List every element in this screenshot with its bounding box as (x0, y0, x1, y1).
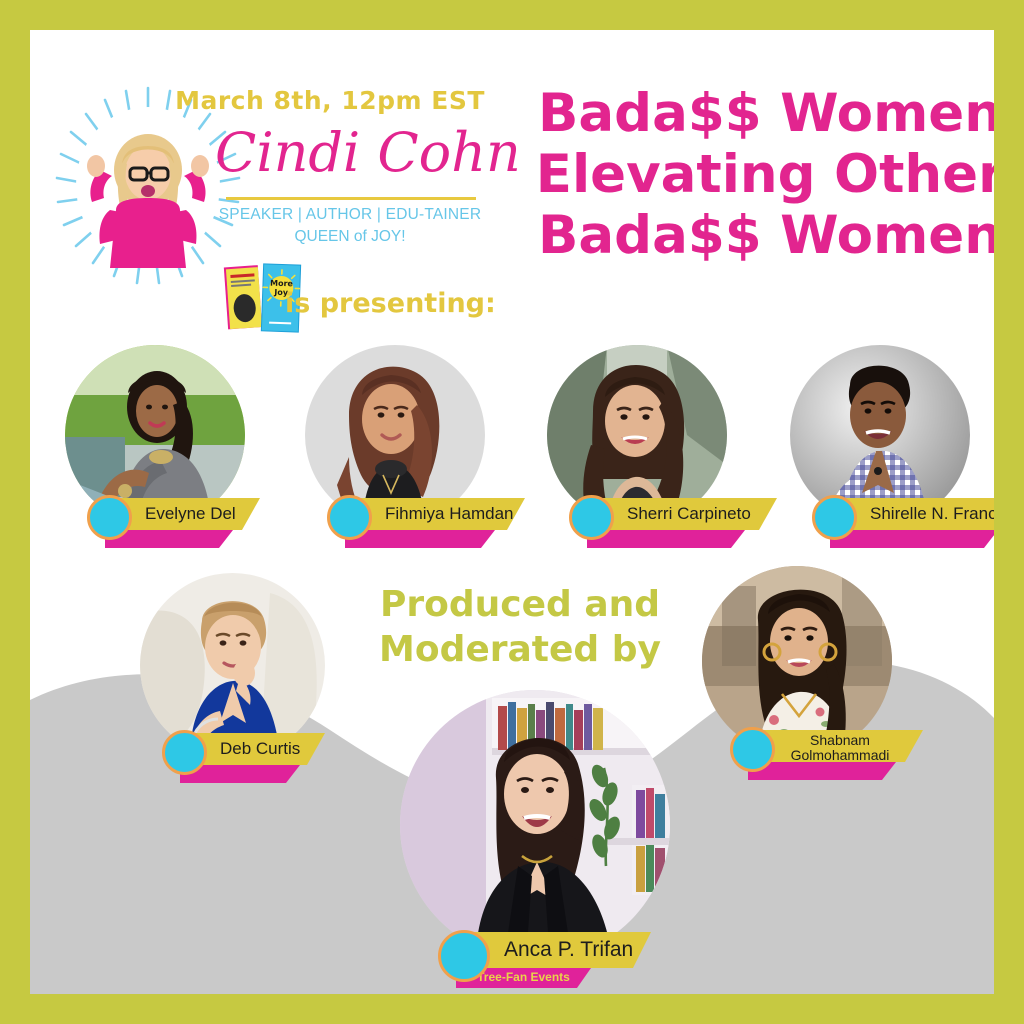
avatar (702, 566, 892, 756)
speaker-name-banner: Sherri Carpineto (569, 498, 779, 550)
speaker-name-line-1: Shabnam (776, 733, 904, 748)
name-banner-pink (830, 530, 994, 548)
speaker-name: Shabnam Golmohammadi (776, 731, 904, 765)
host-name-underline (226, 197, 476, 200)
accent-dot-icon (87, 495, 132, 540)
produced-line-1: Produced and (340, 582, 700, 627)
speaker-name: Deb Curtis (220, 733, 300, 765)
speaker-name-banner: Deb Curtis (162, 733, 332, 785)
accent-dot-icon (569, 495, 614, 540)
produced-moderated-heading: Produced and Moderated by (340, 582, 700, 672)
speaker-name-banner: Shirelle N. Francis (812, 498, 994, 550)
name-banner-pink (345, 530, 495, 548)
name-banner-pink (587, 530, 745, 548)
headline-line-3: Bada$$ Women (510, 206, 994, 267)
event-date: March 8th, 12pm EST (165, 86, 495, 115)
speaker-card-evelyne-del[interactable]: Evelyne Del (65, 345, 275, 560)
host-tagline-primary: SPEAKER | AUTHOR | EDU-TAINER (215, 206, 485, 224)
presenting-label: is presenting: (285, 288, 496, 319)
accent-dot-icon (438, 930, 490, 982)
headline-line-2: Elevating Other (510, 145, 994, 206)
host-tagline-secondary: QUEEN of JOY! (215, 228, 485, 246)
produced-line-2: Moderated by (340, 627, 700, 672)
accent-dot-icon (162, 730, 207, 775)
speaker-name: Fihmiya Hamdan (385, 498, 514, 530)
speaker-name: Sherri Carpineto (627, 498, 751, 530)
host-photo (82, 118, 214, 268)
speaker-card-shabnam-golmohammadi[interactable]: Shabnam Golmohammadi (702, 566, 917, 801)
moderator-card-anca-p-trifan[interactable]: Tree-Fan Events Anca P. Trifan (400, 690, 670, 994)
event-flyer: March 8th, 12pm EST Cindi Cohn SPEAKER |… (0, 0, 1024, 1024)
flyer-canvas: March 8th, 12pm EST Cindi Cohn SPEAKER |… (30, 30, 994, 994)
speaker-name-banner: Fihmiya Hamdan (327, 498, 527, 550)
host-name: Cindi Cohn (215, 126, 480, 180)
accent-dot-icon (812, 495, 857, 540)
speaker-card-shirelle-n-francis[interactable]: Shirelle N. Francis (790, 345, 994, 560)
speaker-name-banner: Shabnam Golmohammadi (730, 730, 925, 782)
speaker-name: Shirelle N. Francis (870, 498, 994, 530)
speaker-name-banner: Evelyne Del (87, 498, 272, 550)
page-title: Bada$$ Women Elevating Other Bada$$ Wome… (510, 84, 994, 267)
svg-text:More: More (270, 279, 294, 289)
speaker-name-line-2: Golmohammadi (776, 748, 904, 763)
accent-dot-icon (730, 727, 775, 772)
moderator-name: Anca P. Trifan (504, 932, 633, 968)
accent-dot-icon (327, 495, 372, 540)
speaker-name: Evelyne Del (145, 498, 236, 530)
speaker-card-sherri-carpineto[interactable]: Sherri Carpineto (547, 345, 757, 560)
moderator-name-banner: Tree-Fan Events Anca P. Trifan (438, 932, 653, 984)
speaker-card-fihmiya-hamdan[interactable]: Fihmiya Hamdan (305, 345, 515, 560)
avatar (140, 573, 325, 758)
avatar (400, 690, 670, 960)
speaker-card-deb-curtis[interactable]: Deb Curtis (140, 573, 350, 798)
headline-line-1: Bada$$ Women (510, 84, 994, 145)
